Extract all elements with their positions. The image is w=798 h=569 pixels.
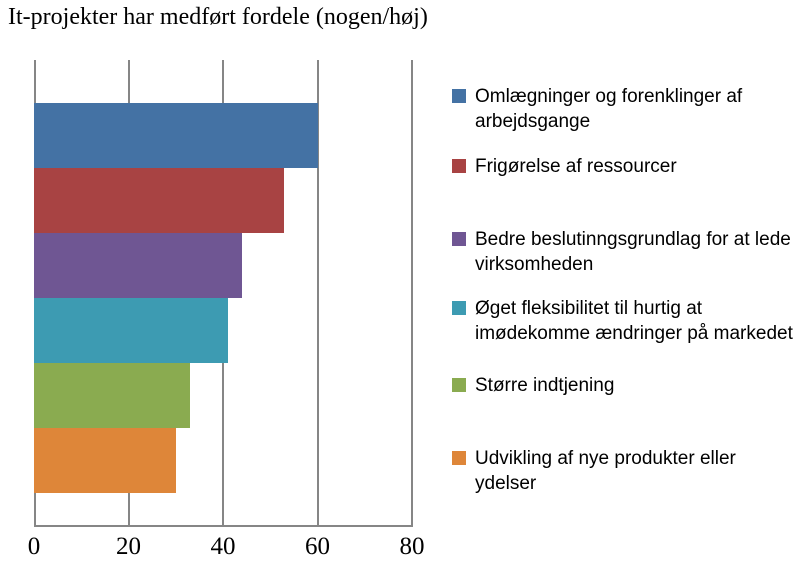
bar xyxy=(34,298,228,363)
bar-series xyxy=(34,103,412,493)
x-axis-tick-label: 40 xyxy=(193,533,253,561)
chart-screenshot: It-projekter har medført fordele (nogen/… xyxy=(0,0,798,569)
bar xyxy=(34,363,190,428)
bar xyxy=(34,233,242,298)
bar xyxy=(34,428,176,493)
plot-area xyxy=(34,60,412,527)
legend-item-label: Omlægninger og forenklinger af arbejdsga… xyxy=(475,84,796,134)
legend-item[interactable]: Omlægninger og forenklinger af arbejdsga… xyxy=(452,84,796,134)
chart-legend: Omlægninger og forenklinger af arbejdsga… xyxy=(452,84,796,514)
chart-title: It-projekter har medført fordele (nogen/… xyxy=(8,2,608,32)
legend-item-label: Bedre beslutinngsgrundlag for at lede vi… xyxy=(475,227,796,277)
legend-swatch-icon xyxy=(452,378,466,392)
x-axis-tick-label: 80 xyxy=(382,533,442,561)
legend-swatch-icon xyxy=(452,451,466,465)
x-axis-tick-label: 0 xyxy=(4,533,64,561)
bar xyxy=(34,168,284,233)
legend-item-label: Større indtjening xyxy=(475,373,796,398)
bar xyxy=(34,103,318,168)
legend-item[interactable]: Større indtjening xyxy=(452,373,796,398)
legend-swatch-icon xyxy=(452,89,466,103)
legend-swatch-icon xyxy=(452,232,466,246)
legend-swatch-icon xyxy=(452,301,466,315)
x-axis-tick-label: 60 xyxy=(288,533,348,561)
legend-swatch-icon xyxy=(452,159,466,173)
legend-item-label: Udvikling af nye produkter eller ydelser xyxy=(475,446,796,496)
legend-item-label: Frigørelse af ressourcer xyxy=(475,154,796,179)
x-axis-tick-label: 20 xyxy=(99,533,159,561)
legend-item[interactable]: Udvikling af nye produkter eller ydelser xyxy=(452,446,796,496)
legend-item-label: Øget fleksibilitet til hurtig at imødeko… xyxy=(475,296,796,346)
legend-item[interactable]: Bedre beslutinngsgrundlag for at lede vi… xyxy=(452,227,796,277)
legend-item[interactable]: Øget fleksibilitet til hurtig at imødeko… xyxy=(452,296,796,346)
legend-item[interactable]: Frigørelse af ressourcer xyxy=(452,154,796,179)
